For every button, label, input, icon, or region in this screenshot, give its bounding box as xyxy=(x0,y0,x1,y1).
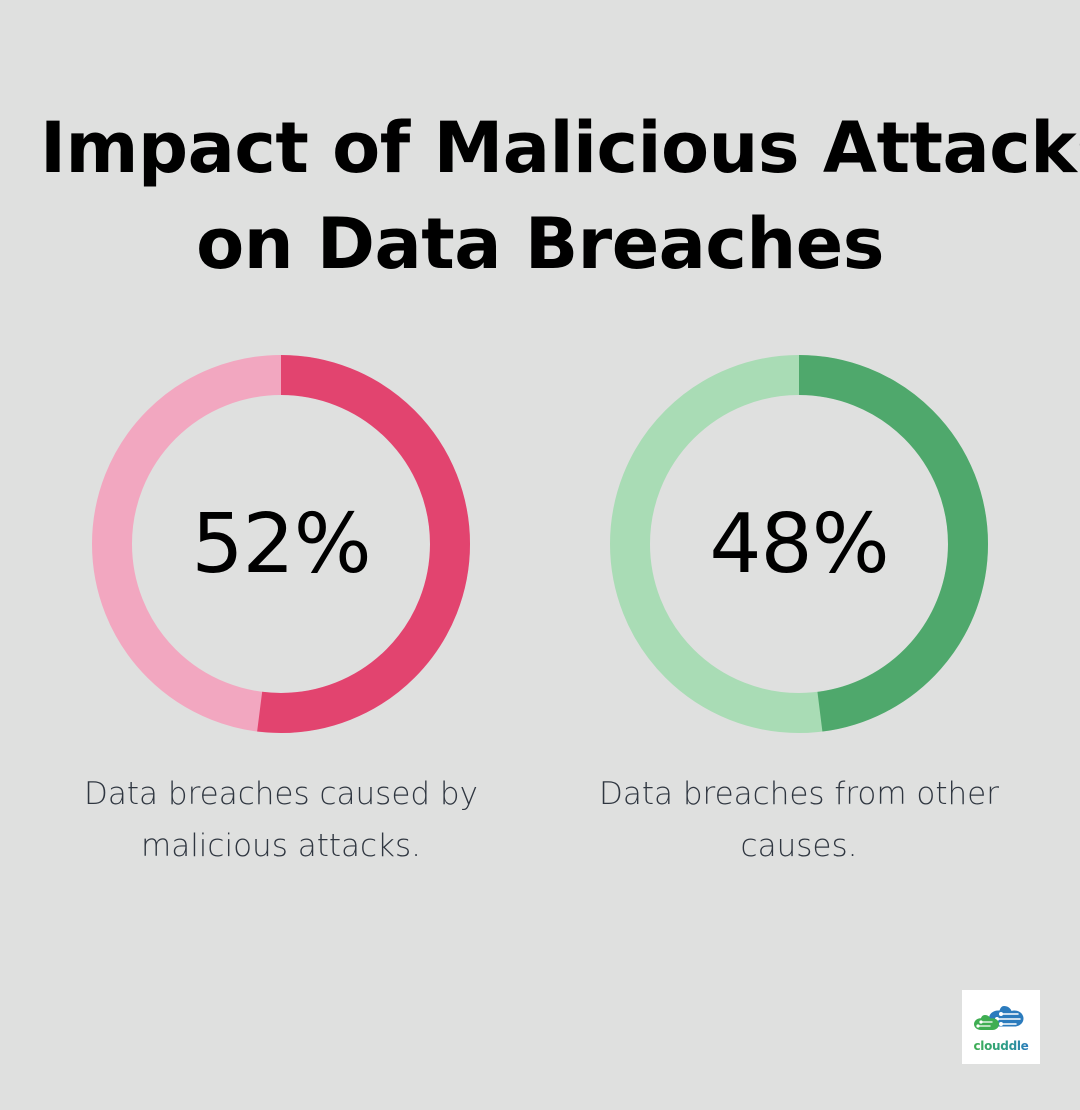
donut-captions-row: Data breaches caused by malicious attack… xyxy=(0,768,1080,888)
cloud-green-node-1 xyxy=(979,1020,982,1023)
clouddle-wordmark: clouddle xyxy=(970,1038,1032,1054)
page-title: Impact of Malicious Attacks on Data Brea… xyxy=(0,100,1080,292)
cloud-circuit-node-3 xyxy=(999,1022,1003,1026)
cloud-circuit-node-1 xyxy=(999,1012,1003,1016)
donut-charts-row: 52% 48% xyxy=(0,355,1080,735)
malicious-attacks-caption-line-1: Data breaches caused by xyxy=(36,768,526,820)
malicious-attacks-caption: Data breaches caused by malicious attack… xyxy=(36,768,526,872)
malicious-attacks-donut-graphic xyxy=(92,355,470,733)
other-causes-caption-line-2: causes. xyxy=(554,820,1044,872)
other-causes-caption: Data breaches from other causes. xyxy=(554,768,1044,872)
cloud-green-node-2 xyxy=(976,1024,979,1027)
page-title-line-2: on Data Breaches xyxy=(40,196,1040,292)
infographic-canvas: Impact of Malicious Attacks on Data Brea… xyxy=(0,0,1080,1110)
other-causes-caption-line-1: Data breaches from other xyxy=(554,768,1044,820)
malicious-attacks-donut: 52% xyxy=(92,355,470,733)
other-causes-donut: 48% xyxy=(610,355,988,733)
other-causes-donut-graphic xyxy=(610,355,988,733)
clouddle-cloud-icon xyxy=(972,1001,1030,1037)
page-title-line-1: Impact of Malicious Attacks xyxy=(40,100,1040,196)
malicious-attacks-caption-line-2: malicious attacks. xyxy=(36,820,526,872)
clouddle-wordmark-text: clouddle xyxy=(973,1039,1028,1053)
clouddle-logo: clouddle xyxy=(962,990,1040,1064)
